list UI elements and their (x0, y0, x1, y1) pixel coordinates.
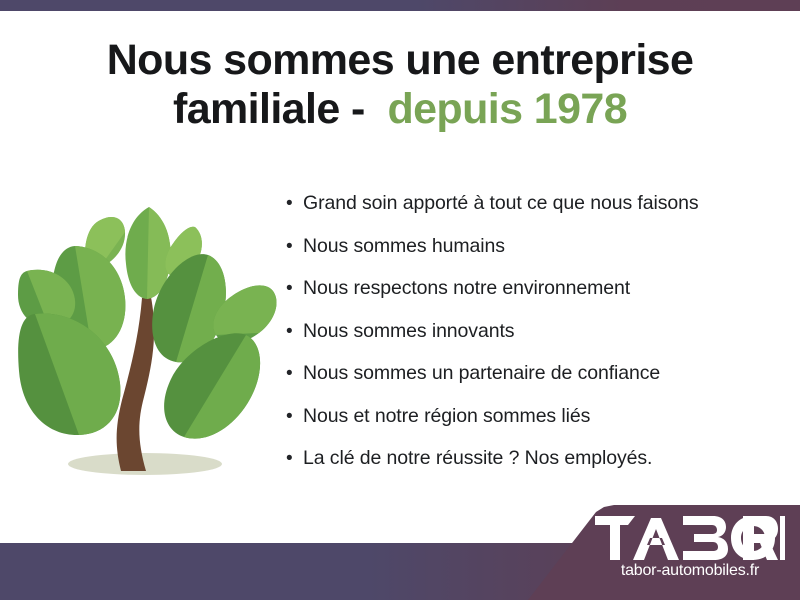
list-item: • Nous sommes innovants (286, 320, 786, 363)
title-line-2-main: familiale - (173, 85, 365, 133)
bullet-marker-icon: • (286, 237, 303, 256)
list-item: • Nous respectons notre environnement (286, 277, 786, 320)
top-accent-bar (0, 0, 800, 11)
tabor-logo (595, 516, 785, 560)
value-bullet-list: • Grand soin apporté à tout ce que nous … (286, 192, 786, 490)
bullet-marker-icon: • (286, 194, 303, 213)
list-item: • Nous sommes un partenaire de confiance (286, 362, 786, 405)
logo-domain-text: tabor-automobiles.fr (595, 562, 785, 580)
tree-illustration (18, 185, 282, 490)
bullet-marker-icon: • (286, 322, 303, 341)
tree-shadow (68, 453, 222, 475)
bullet-marker-icon: • (286, 364, 303, 383)
list-item: • Nous sommes humains (286, 235, 786, 278)
slide-canvas: Nous sommes une entreprise familiale - d… (0, 0, 800, 600)
bullet-marker-icon: • (286, 279, 303, 298)
list-item-label: Nous et notre région sommes liés (303, 405, 590, 428)
bullet-marker-icon: • (286, 449, 303, 468)
page-title: Nous sommes une entreprise familiale - d… (0, 36, 800, 134)
title-line-2: familiale - depuis 1978 (0, 85, 800, 134)
title-line-1: Nous sommes une entreprise (0, 36, 800, 85)
list-item-label: La clé de notre réussite ? Nos employés. (303, 447, 652, 470)
list-item: • Grand soin apporté à tout ce que nous … (286, 192, 786, 235)
list-item-label: Nous sommes humains (303, 235, 505, 258)
list-item-label: Grand soin apporté à tout ce que nous fa… (303, 192, 699, 215)
list-item-label: Nous sommes innovants (303, 320, 514, 343)
list-item-label: Nous respectons notre environnement (303, 277, 630, 300)
title-line-2-accent: depuis 1978 (387, 85, 627, 133)
list-item-label: Nous sommes un partenaire de confiance (303, 362, 660, 385)
list-item: • La clé de notre réussite ? Nos employé… (286, 447, 786, 490)
bullet-marker-icon: • (286, 407, 303, 426)
list-item: • Nous et notre région sommes liés (286, 405, 786, 448)
